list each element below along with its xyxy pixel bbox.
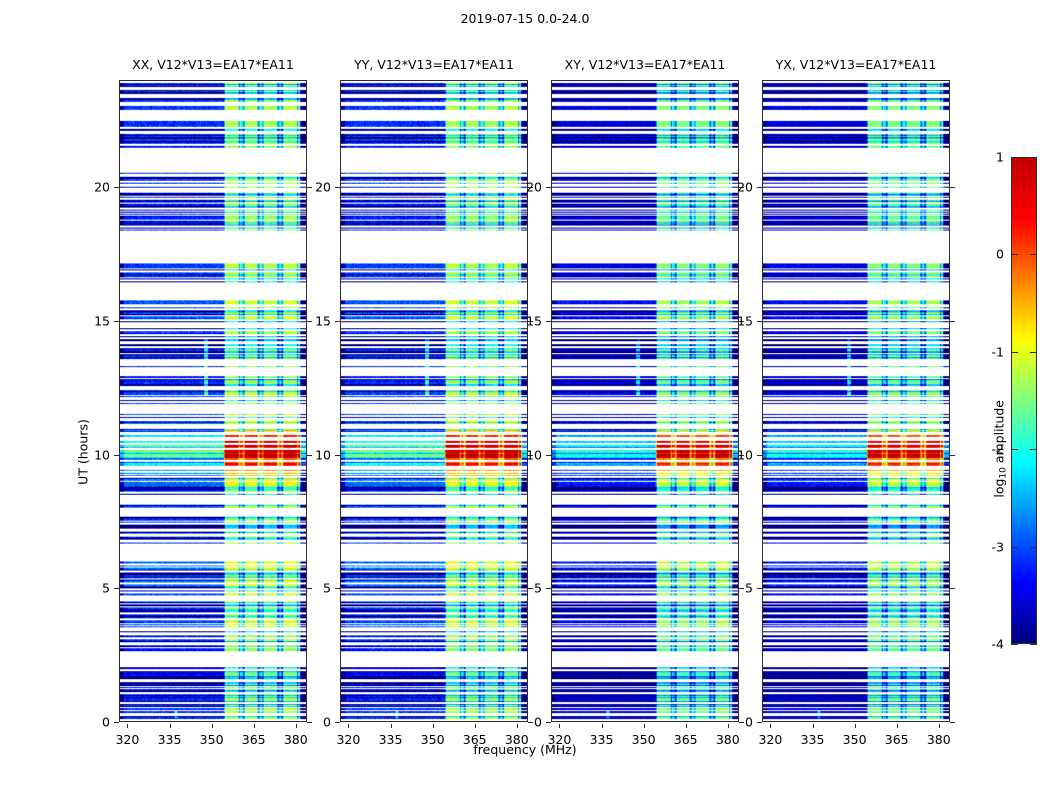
- x-tick-mark: [855, 724, 856, 728]
- colorbar-tick-label: -4: [992, 637, 1004, 652]
- panel-title-xy: XY, V12*V13=EA17*EA11: [551, 57, 739, 72]
- y-tick-mark: [546, 722, 551, 723]
- x-tick-mark: [897, 724, 898, 728]
- y-tick-label: 5: [102, 581, 110, 596]
- x-tick-mark: [559, 724, 560, 728]
- y-tick-label: 5: [323, 581, 331, 596]
- colorbar-tick-mark: [1011, 449, 1018, 450]
- y-tick-mark: [335, 455, 340, 456]
- y-tick-mark-right: [528, 588, 533, 589]
- y-tick-label: 15: [737, 313, 753, 328]
- figure-canvas: 2019-07-15 0.0-24.0 XX, V12*V13=EA17*EA1…: [0, 0, 1050, 800]
- x-tick-mark: [517, 724, 518, 728]
- panel-title-yx: YX, V12*V13=EA17*EA11: [762, 57, 950, 72]
- colorbar-tick-mark: [1011, 352, 1018, 353]
- y-tick-mark: [114, 187, 119, 188]
- panel-frame-xx: [119, 80, 307, 722]
- y-tick-mark-right: [950, 722, 955, 723]
- panel-frame-yy: [340, 80, 528, 722]
- dynamic-spectrum-xx: [120, 81, 306, 721]
- colorbar-tick-mark: [1011, 644, 1018, 645]
- y-tick-mark-right: [950, 321, 955, 322]
- x-tick-mark: [728, 724, 729, 728]
- y-tick-label: 0: [323, 715, 331, 730]
- colorbar-label-suffix: amplitude: [992, 400, 1007, 467]
- y-tick-label: 0: [534, 715, 542, 730]
- colorbar-tick-mark-right: [1030, 449, 1037, 450]
- y-tick-label: 15: [315, 313, 331, 328]
- y-tick-label: 0: [102, 715, 110, 730]
- x-tick-mark: [770, 724, 771, 728]
- x-tick-mark: [296, 724, 297, 728]
- y-tick-label: 20: [526, 180, 542, 195]
- y-tick-mark: [335, 588, 340, 589]
- colorbar-tick-mark-right: [1030, 157, 1037, 158]
- y-tick-mark: [335, 321, 340, 322]
- y-tick-label: 20: [94, 180, 110, 195]
- y-tick-mark: [114, 722, 119, 723]
- colorbar-tick-mark: [1011, 157, 1018, 158]
- y-tick-mark-right: [950, 187, 955, 188]
- y-tick-mark-right: [950, 588, 955, 589]
- colorbar-tick-mark: [1011, 254, 1018, 255]
- colorbar-label-prefix: log: [992, 479, 1007, 498]
- y-tick-mark-right: [739, 588, 744, 589]
- y-tick-label: 10: [315, 447, 331, 462]
- y-tick-label: 10: [526, 447, 542, 462]
- panel-frame-yx: [762, 80, 950, 722]
- y-tick-mark-right: [307, 187, 312, 188]
- panel-yx[interactable]: YX, V12*V13=EA17*EA11 320335350365380051…: [762, 80, 950, 722]
- y-tick-mark: [546, 455, 551, 456]
- x-tick-mark: [475, 724, 476, 728]
- y-tick-mark: [114, 455, 119, 456]
- y-tick-mark: [546, 588, 551, 589]
- y-tick-mark-right: [307, 321, 312, 322]
- colorbar-tick-label: 0: [996, 247, 1004, 262]
- y-tick-mark: [335, 722, 340, 723]
- y-tick-label: 20: [315, 180, 331, 195]
- y-tick-mark-right: [307, 722, 312, 723]
- figure-suptitle: 2019-07-15 0.0-24.0: [0, 11, 1050, 26]
- y-tick-label: 10: [737, 447, 753, 462]
- x-tick-mark: [602, 724, 603, 728]
- y-tick-mark: [757, 321, 762, 322]
- x-tick-mark: [170, 724, 171, 728]
- x-tick-mark: [212, 724, 213, 728]
- colorbar-label-subscript: 10: [999, 467, 1009, 478]
- y-tick-label: 0: [745, 715, 753, 730]
- dynamic-spectrum-xy: [552, 81, 738, 721]
- dynamic-spectrum-yx: [763, 81, 949, 721]
- panel-yy[interactable]: YY, V12*V13=EA17*EA11 320335350365380051…: [340, 80, 528, 722]
- x-tick-mark: [686, 724, 687, 728]
- y-tick-mark-right: [528, 722, 533, 723]
- x-axis-label: frequency (MHz): [0, 742, 1050, 757]
- panel-title-xx: XX, V12*V13=EA17*EA11: [119, 57, 307, 72]
- x-tick-mark: [348, 724, 349, 728]
- y-tick-mark: [757, 187, 762, 188]
- y-tick-label: 5: [534, 581, 542, 596]
- y-tick-label: 10: [94, 447, 110, 462]
- y-tick-label: 20: [737, 180, 753, 195]
- y-tick-mark-right: [950, 455, 955, 456]
- colorbar-tick-mark-right: [1030, 547, 1037, 548]
- x-tick-mark: [644, 724, 645, 728]
- x-tick-mark: [254, 724, 255, 728]
- x-tick-mark: [433, 724, 434, 728]
- colorbar-tick-label: -1: [992, 344, 1004, 359]
- y-tick-mark: [114, 321, 119, 322]
- panel-title-yy: YY, V12*V13=EA17*EA11: [340, 57, 528, 72]
- y-tick-mark: [757, 722, 762, 723]
- y-tick-mark-right: [307, 588, 312, 589]
- y-tick-mark-right: [739, 722, 744, 723]
- colorbar-tick-label: 1: [996, 150, 1004, 165]
- x-tick-mark: [939, 724, 940, 728]
- colorbar[interactable]: -4-3-2-101: [1011, 157, 1037, 644]
- colorbar-gradient: [1012, 158, 1036, 643]
- y-axis-label: UT (hours): [76, 419, 91, 485]
- y-tick-mark: [546, 321, 551, 322]
- panel-xx[interactable]: XX, V12*V13=EA17*EA11 320335350365380051…: [119, 80, 307, 722]
- x-tick-mark: [127, 724, 128, 728]
- y-tick-label: 5: [745, 581, 753, 596]
- y-tick-mark: [757, 588, 762, 589]
- y-tick-mark: [757, 455, 762, 456]
- colorbar-tick-mark-right: [1030, 644, 1037, 645]
- panel-frame-xy: [551, 80, 739, 722]
- colorbar-label: log10 amplitude: [992, 400, 1009, 498]
- x-tick-mark: [813, 724, 814, 728]
- y-tick-mark: [114, 588, 119, 589]
- y-tick-label: 15: [94, 313, 110, 328]
- colorbar-tick-mark: [1011, 547, 1018, 548]
- dynamic-spectrum-yy: [341, 81, 527, 721]
- colorbar-frame: [1011, 157, 1037, 644]
- y-tick-mark-right: [307, 455, 312, 456]
- y-tick-mark: [546, 187, 551, 188]
- panel-xy[interactable]: XY, V12*V13=EA17*EA11 320335350365380051…: [551, 80, 739, 722]
- x-tick-mark: [391, 724, 392, 728]
- colorbar-tick-label: -3: [992, 539, 1004, 554]
- y-tick-mark: [335, 187, 340, 188]
- y-tick-label: 15: [526, 313, 542, 328]
- colorbar-tick-mark-right: [1030, 254, 1037, 255]
- colorbar-tick-mark-right: [1030, 352, 1037, 353]
